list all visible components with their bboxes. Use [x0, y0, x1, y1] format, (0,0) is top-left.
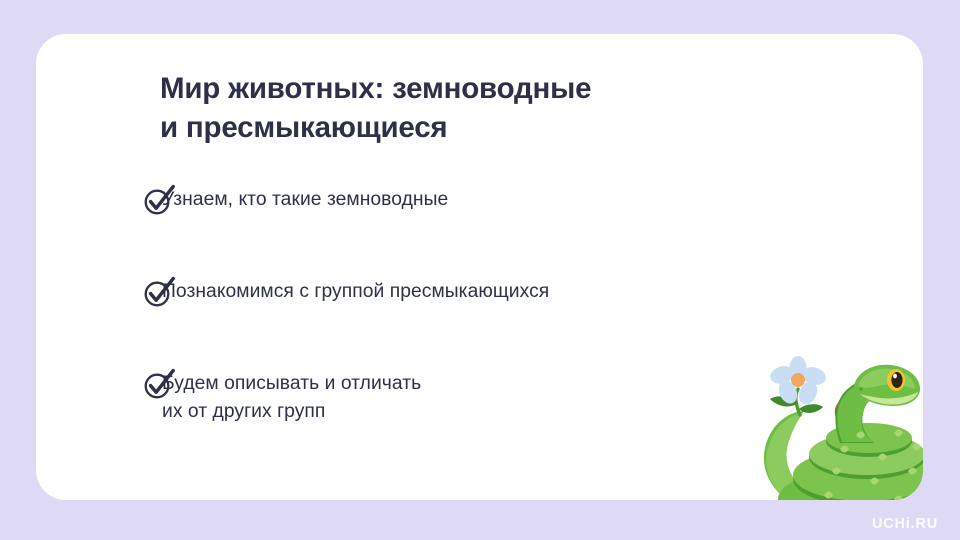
coiled-snake-with-flower-illustration — [728, 349, 923, 500]
check-circle-icon — [142, 182, 176, 216]
list-item: Познакомимся с группой пресмыкающихся — [106, 278, 806, 308]
list-item-label: Познакомимся с группой пресмыкающихся — [162, 278, 806, 306]
list-item: Будем описывать и отличать их от других … — [106, 370, 806, 427]
list-item-label: Будем описывать и отличать их от других … — [162, 370, 806, 427]
page-title: Мир животных: земноводные и пресмыкающие… — [160, 70, 800, 148]
list-item-label: Узнаем, кто такие земноводные — [162, 186, 806, 214]
check-circle-icon — [142, 366, 176, 400]
list-item: Узнаем, кто такие земноводные — [106, 186, 806, 216]
check-circle-icon — [142, 274, 176, 308]
slide-root: Мир животных: земноводные и пресмыкающие… — [0, 0, 960, 540]
watermark-logo: UCHi.RU — [872, 516, 938, 532]
content-card: Мир животных: земноводные и пресмыкающие… — [36, 34, 923, 500]
bullet-list: Узнаем, кто такие земноводные Познакомим… — [106, 186, 806, 427]
